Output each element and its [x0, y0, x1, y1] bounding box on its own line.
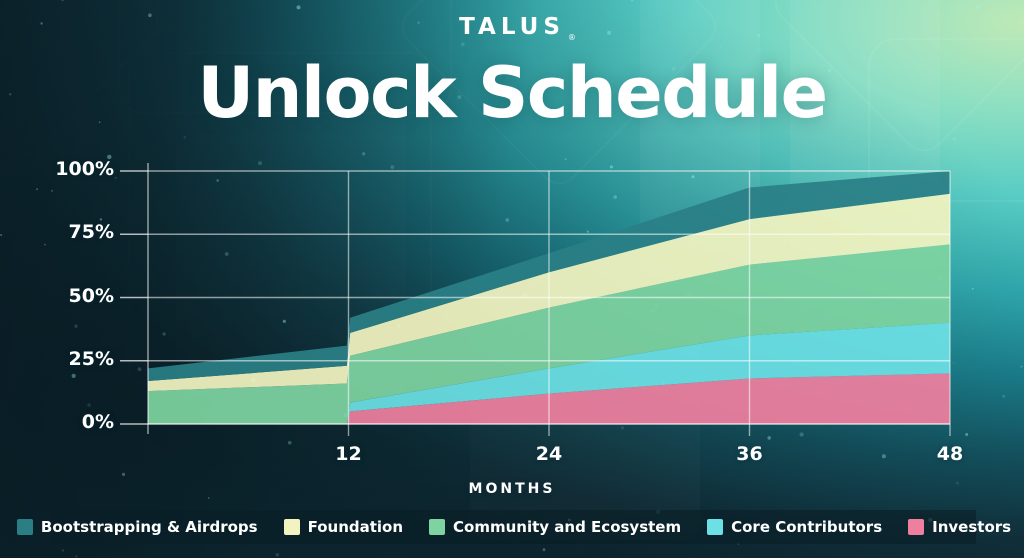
legend-item[interactable]: Community and Ecosystem	[429, 518, 681, 536]
chart-canvas: TALUS® Unlock Schedule 0%25%50%75%100% 1…	[0, 0, 1024, 558]
x-axis-tick-label: 12	[319, 443, 379, 465]
stacked-area-chart: 0%25%50%75%100% 12243648 MONTHS	[0, 0, 1024, 558]
legend-label: Foundation	[308, 518, 403, 536]
x-axis-tick-label: 48	[920, 443, 980, 465]
legend-label: Investors	[932, 518, 1011, 536]
legend-swatch-icon	[284, 519, 300, 535]
y-axis-tick-label: 75%	[28, 221, 114, 243]
legend-label: Bootstrapping & Airdrops	[41, 518, 258, 536]
legend-swatch-icon	[429, 519, 445, 535]
legend-swatch-icon	[707, 519, 723, 535]
x-axis-title: MONTHS	[0, 481, 1024, 497]
legend-item[interactable]: Investors	[908, 518, 1011, 536]
legend-item[interactable]: Core Contributors	[707, 518, 882, 536]
legend-item[interactable]: Foundation	[284, 518, 403, 536]
y-axis-tick-label: 50%	[28, 285, 114, 307]
y-axis-tick-label: 100%	[28, 158, 114, 180]
chart-legend: Bootstrapping & AirdropsFoundationCommun…	[52, 510, 976, 544]
plot-area	[0, 0, 1024, 558]
legend-label: Community and Ecosystem	[453, 518, 681, 536]
x-axis-tick-label: 24	[519, 443, 579, 465]
legend-label: Core Contributors	[731, 518, 882, 536]
y-axis-tick-label: 0%	[28, 411, 114, 433]
legend-swatch-icon	[908, 519, 924, 535]
legend-item[interactable]: Bootstrapping & Airdrops	[17, 518, 258, 536]
y-axis-tick-label: 25%	[28, 348, 114, 370]
legend-swatch-icon	[17, 519, 33, 535]
x-axis-tick-label: 36	[720, 443, 780, 465]
